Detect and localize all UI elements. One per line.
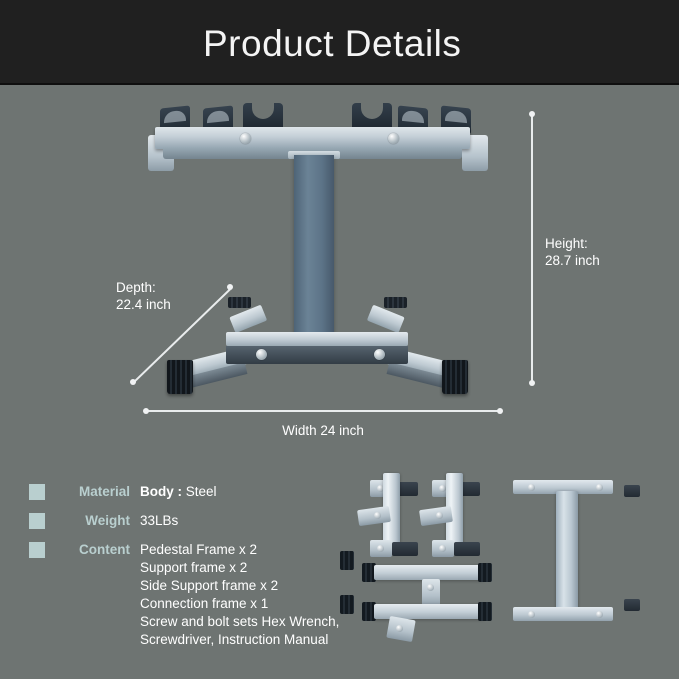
base-foot-rear-left <box>228 297 251 308</box>
weight-swatch-icon <box>29 513 45 529</box>
depth-dimension-dot-bottom <box>130 379 136 385</box>
part-bolt-bl <box>377 545 384 552</box>
height-dimension-dot-top <box>529 111 535 117</box>
depth-value-text: 22.4 inch <box>116 296 171 313</box>
top-rail <box>155 127 470 149</box>
part-clip-bottom <box>624 599 640 611</box>
width-dimension-label: Width 24 inch <box>146 422 500 439</box>
part-bracket-dark-br <box>454 542 480 556</box>
height-dimension-line <box>531 114 533 383</box>
base-foot-rear-right <box>384 297 407 308</box>
body-area: Height: 28.7 inch Depth: 22.4 inch Width… <box>0 85 679 679</box>
part-bolt-cross-top-left <box>528 484 535 491</box>
content-item: Screw and bolt sets Hex Wrench, <box>140 613 339 631</box>
height-label-text: Height: <box>545 235 600 252</box>
part-cap-loose-1 <box>340 551 354 570</box>
base-foot-front-right <box>442 360 468 394</box>
spec-row-weight: Weight 33LBs <box>0 512 340 530</box>
page-title: Product Details <box>203 22 461 66</box>
part-column-shaft <box>556 491 578 609</box>
part-bolt-ml <box>374 512 381 519</box>
part-base-bar-1 <box>374 565 484 580</box>
part-bolt-cross-top-right <box>596 484 603 491</box>
header-bar: Product Details <box>0 0 679 85</box>
base-bolt-left <box>256 349 267 360</box>
base-bolt-right <box>374 349 385 360</box>
part-bracket-dark-bl <box>392 542 418 556</box>
spec-list: Material Body : Steel Weight 33LBs Conte… <box>0 483 340 660</box>
depth-label-text: Depth: <box>116 279 171 296</box>
content-item: Connection frame x 1 <box>140 595 339 613</box>
spec-value-content: Pedestal Frame x 2 Support frame x 2 Sid… <box>140 541 339 649</box>
depth-dimension-dot-top <box>227 284 233 290</box>
height-dimension-dot-bottom <box>529 380 535 386</box>
product-hero-image: Height: 28.7 inch Depth: 22.4 inch Width… <box>0 85 679 445</box>
content-item: Side Support frame x 2 <box>140 577 339 595</box>
part-cap-loose-2 <box>340 595 354 614</box>
center-column <box>294 155 334 345</box>
material-body-value: Steel <box>186 484 217 499</box>
part-bolt-bar2 <box>396 625 403 632</box>
spec-row-content: Content Pedestal Frame x 2 Support frame… <box>0 541 340 649</box>
width-dimension-line <box>146 410 500 412</box>
part-bolt-cross-bottom-right <box>596 611 603 618</box>
part-foot-cap-bar1-right <box>478 563 492 582</box>
spec-key-content: Content <box>52 541 130 559</box>
rail-bolt-left <box>240 133 251 144</box>
part-foot-cap-bar2-right <box>478 602 492 621</box>
spec-value-weight: 33LBs <box>140 512 178 530</box>
base-cross-beam <box>226 332 408 346</box>
spec-row-material: Material Body : Steel <box>0 483 340 501</box>
content-item: Screwdriver, Instruction Manual <box>140 631 339 649</box>
width-dimension-dot-left <box>143 408 149 414</box>
height-dimension-label: Height: 28.7 inch <box>545 235 600 269</box>
content-item: Pedestal Frame x 2 <box>140 541 339 559</box>
part-bolt-bar1 <box>427 584 434 591</box>
part-bolt-cross-bottom-left <box>528 611 535 618</box>
part-bolt-tr <box>439 485 446 492</box>
content-item: Support frame x 2 <box>140 559 339 577</box>
content-swatch-icon <box>29 542 45 558</box>
part-clip-top <box>624 485 640 497</box>
material-swatch-icon <box>29 484 45 500</box>
depth-dimension-label: Depth: 22.4 inch <box>116 279 171 313</box>
spec-key-material: Material <box>52 483 130 501</box>
part-bolt-mr <box>436 512 443 519</box>
base-leg-rear-left <box>229 305 267 333</box>
product-details-infographic: Product Details <box>0 0 679 679</box>
width-dimension-dot-right <box>497 408 503 414</box>
material-body-label: Body : <box>140 484 182 499</box>
rail-bolt-right <box>388 133 399 144</box>
spec-key-weight: Weight <box>52 512 130 530</box>
base-leg-rear-right <box>367 305 405 333</box>
height-value-text: 28.7 inch <box>545 252 600 269</box>
base-foot-front-left <box>167 360 193 394</box>
part-bolt-br <box>439 545 446 552</box>
spec-value-material: Body : Steel <box>140 483 217 501</box>
